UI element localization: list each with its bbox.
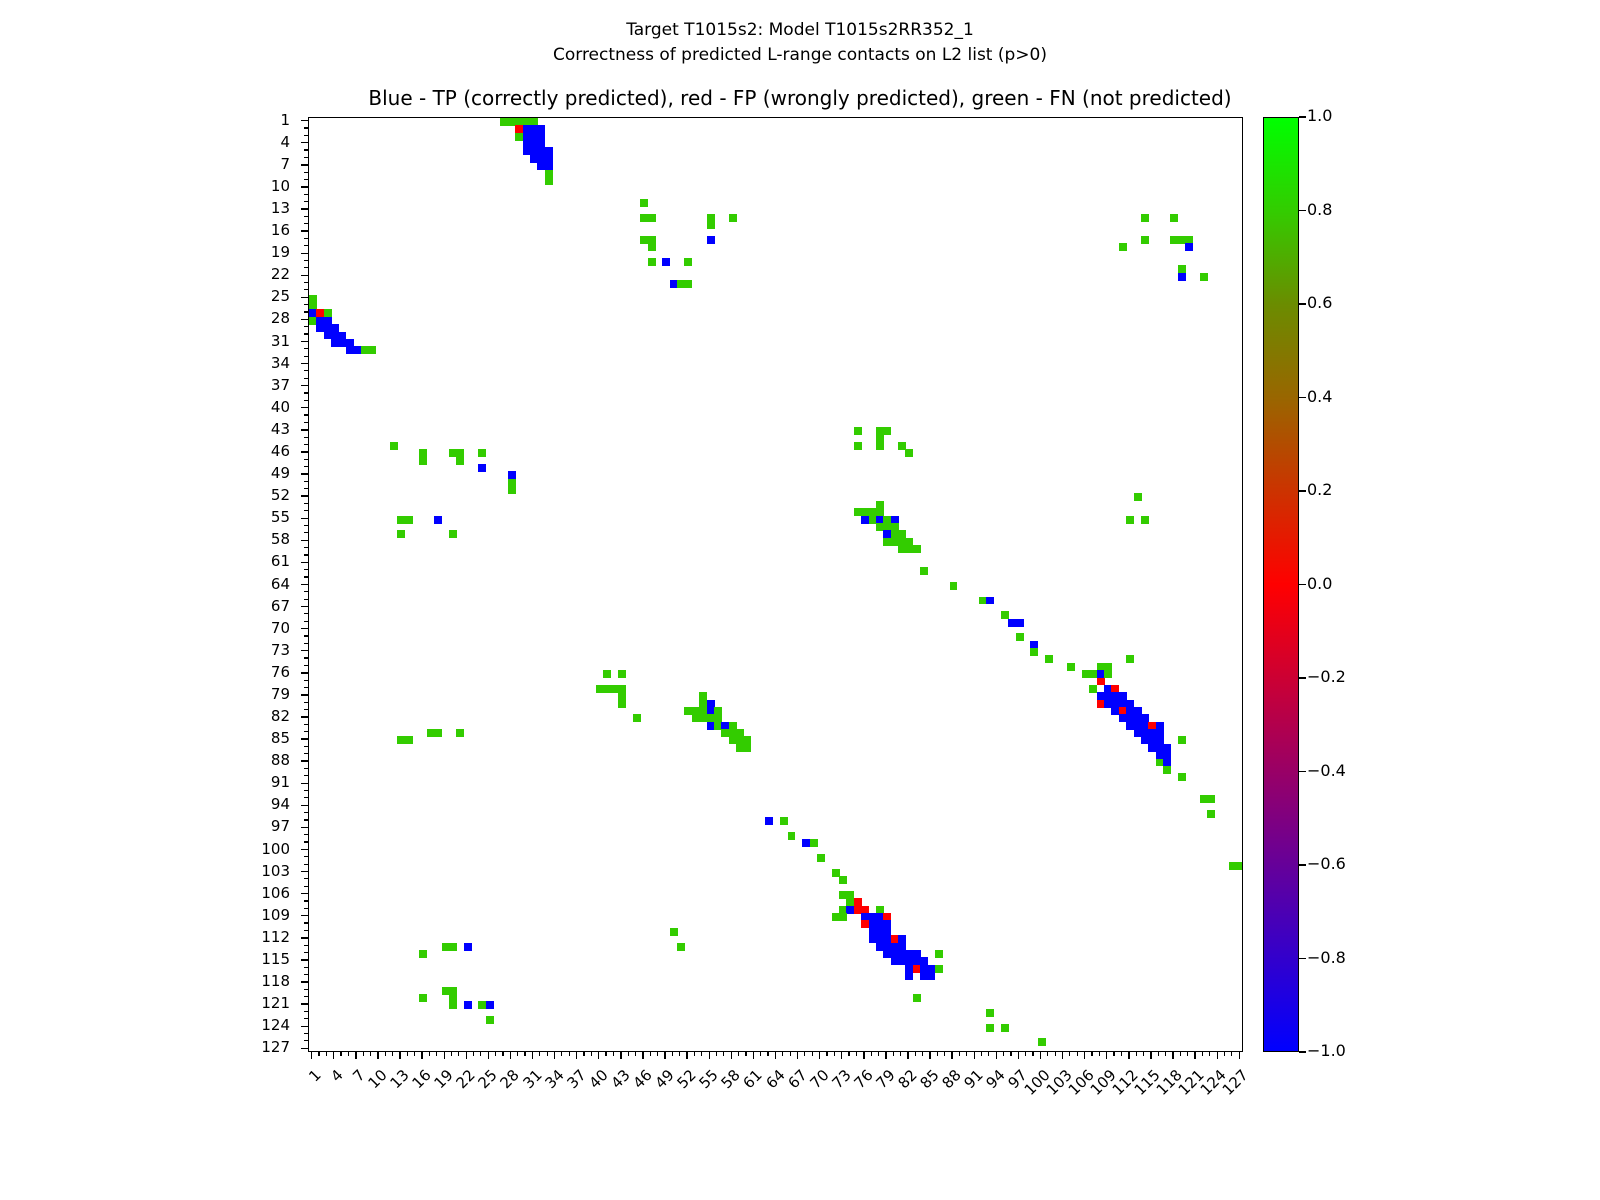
y-tick-label: 25: [0, 287, 290, 305]
x-tick-minor: [458, 1052, 459, 1056]
colorbar-tick-labels: 1.00.80.60.40.20.0−0.2−0.4−0.6−0.8−1.0: [1307, 117, 1387, 1052]
contact-cell: [449, 530, 457, 538]
colorbar-tick: [1299, 677, 1306, 678]
y-tick-label: 7: [0, 155, 290, 173]
contact-cell: [839, 876, 847, 884]
x-tick-minor: [1069, 1052, 1070, 1056]
x-tick-minor: [539, 1052, 540, 1056]
title-line-1: Target T1015s2: Model T1015s2RR352_1: [0, 18, 1600, 43]
x-tick-minor: [981, 1052, 982, 1056]
x-tick-minor: [701, 1052, 702, 1056]
x-tick-major: [1172, 1052, 1173, 1059]
colorbar-tick: [1299, 958, 1306, 959]
x-tick-major: [709, 1052, 710, 1059]
contact-cell: [419, 950, 427, 958]
x-tick-minor: [790, 1052, 791, 1056]
x-tick-major: [1040, 1052, 1041, 1059]
contact-cell: [1001, 1024, 1009, 1032]
x-axis-labels: 1471013161922252831343740434649525558616…: [308, 1060, 1243, 1140]
x-tick-major: [819, 1052, 820, 1059]
x-tick-minor: [922, 1052, 923, 1056]
x-tick-minor: [547, 1052, 548, 1056]
x-tick-major: [377, 1052, 378, 1059]
y-tick-label: 67: [0, 597, 290, 615]
x-tick-minor: [635, 1052, 636, 1056]
x-tick-minor: [1003, 1052, 1004, 1056]
contact-cell: [839, 913, 847, 921]
contact-cell: [390, 442, 398, 450]
contact-cell: [449, 943, 457, 951]
y-tick-label: 46: [0, 442, 290, 460]
x-tick-minor: [738, 1052, 739, 1056]
x-tick-minor: [745, 1052, 746, 1056]
contact-cell: [905, 449, 913, 457]
contact-cell: [648, 258, 656, 266]
y-tick-label: 52: [0, 486, 290, 504]
y-tick-label: 43: [0, 420, 290, 438]
x-tick-major: [620, 1052, 621, 1059]
contact-cell: [729, 214, 737, 222]
x-tick-minor: [966, 1052, 967, 1056]
y-tick-label: 85: [0, 729, 290, 747]
contact-cell: [456, 729, 464, 737]
x-tick-minor: [517, 1052, 518, 1056]
x-tick-minor: [1047, 1052, 1048, 1056]
y-tick-label: 22: [0, 265, 290, 283]
contact-cell: [743, 744, 751, 752]
y-tick-label: 94: [0, 795, 290, 813]
x-tick-minor: [716, 1052, 717, 1056]
y-tick-label: 49: [0, 464, 290, 482]
y-tick-label: 37: [0, 376, 290, 394]
contact-cell: [618, 700, 626, 708]
x-tick-minor: [812, 1052, 813, 1056]
colorbar-tick: [1299, 116, 1306, 117]
x-tick-minor: [407, 1052, 408, 1056]
contact-cell: [545, 177, 553, 185]
x-tick-major: [1194, 1052, 1195, 1059]
y-tick-label: 55: [0, 508, 290, 526]
x-tick-major: [841, 1052, 842, 1059]
contact-cell: [986, 597, 994, 605]
contact-cell: [464, 943, 472, 951]
colorbar-tick-label: −0.4: [1307, 761, 1346, 780]
contact-cell: [1045, 655, 1053, 663]
x-tick-minor: [414, 1052, 415, 1056]
x-tick-minor: [605, 1052, 606, 1056]
x-tick-major: [996, 1052, 997, 1059]
x-tick-major: [885, 1052, 886, 1059]
contact-cell: [1067, 663, 1075, 671]
x-tick-major: [974, 1052, 975, 1059]
x-tick-minor: [672, 1052, 673, 1056]
title-line-2: Correctness of predicted L-range contact…: [0, 43, 1600, 68]
contact-cell: [478, 464, 486, 472]
contact-cell: [478, 449, 486, 457]
y-tick-label: 76: [0, 663, 290, 681]
colorbar-tick-label: 0.2: [1307, 480, 1332, 499]
colorbar-tick: [1299, 490, 1306, 491]
contact-cell: [368, 346, 376, 354]
x-tick-minor: [1113, 1052, 1114, 1056]
x-tick-minor: [826, 1052, 827, 1056]
x-tick-major: [1150, 1052, 1151, 1059]
contact-cell: [670, 928, 678, 936]
contact-cell: [1038, 1038, 1046, 1046]
x-tick-minor: [723, 1052, 724, 1056]
x-tick-major: [355, 1052, 356, 1059]
contact-cell: [935, 950, 943, 958]
y-tick-label: 28: [0, 309, 290, 327]
x-tick-major: [532, 1052, 533, 1059]
x-tick-minor: [1224, 1052, 1225, 1056]
contact-cell: [405, 516, 413, 524]
contact-cell: [434, 729, 442, 737]
x-tick-major: [1062, 1052, 1063, 1059]
x-tick-minor: [1158, 1052, 1159, 1056]
colorbar: [1263, 117, 1299, 1052]
contact-cell: [927, 972, 935, 980]
contact-cell: [788, 832, 796, 840]
x-tick-minor: [1136, 1052, 1137, 1056]
contact-cell: [486, 1016, 494, 1024]
colorbar-tick: [1299, 210, 1306, 211]
x-tick-minor: [694, 1052, 695, 1056]
x-tick-minor: [318, 1052, 319, 1056]
contact-cell: [1237, 862, 1243, 870]
contact-cell: [662, 258, 670, 266]
x-tick-minor: [451, 1052, 452, 1056]
x-tick-minor: [480, 1052, 481, 1056]
y-tick-label: 121: [0, 994, 290, 1012]
x-tick-minor: [363, 1052, 364, 1056]
x-tick-minor: [959, 1052, 960, 1056]
x-tick-major: [775, 1052, 776, 1059]
y-tick-label: 79: [0, 685, 290, 703]
contact-cell: [456, 457, 464, 465]
y-tick-label: 13: [0, 199, 290, 217]
x-tick-major: [951, 1052, 952, 1059]
x-tick-major: [1106, 1052, 1107, 1059]
contact-cell: [920, 567, 928, 575]
x-tick-major: [1217, 1052, 1218, 1059]
x-tick-minor: [436, 1052, 437, 1056]
x-tick-minor: [340, 1052, 341, 1056]
colorbar-tick: [1299, 771, 1306, 772]
y-tick-label: 61: [0, 552, 290, 570]
x-tick-major: [1128, 1052, 1129, 1059]
contact-cell: [1134, 493, 1142, 501]
contact-cell: [508, 486, 516, 494]
contact-cell: [817, 854, 825, 862]
y-tick-label: 88: [0, 751, 290, 769]
y-axis-labels: 1471013161922252831343740434649525558616…: [0, 117, 308, 1052]
y-tick-label: 103: [0, 862, 290, 880]
x-tick-minor: [834, 1052, 835, 1056]
contact-cell: [1126, 516, 1134, 524]
contact-cell: [854, 442, 862, 450]
x-tick-minor: [1121, 1052, 1122, 1056]
x-tick-minor: [893, 1052, 894, 1056]
y-tick-label: 4: [0, 133, 290, 151]
y-tick-label: 58: [0, 530, 290, 548]
y-tick-label: 100: [0, 840, 290, 858]
contact-cell: [913, 545, 921, 553]
contact-map-plot-area[interactable]: [308, 117, 1243, 1052]
x-tick-minor: [1055, 1052, 1056, 1056]
x-tick-major: [929, 1052, 930, 1059]
x-tick-minor: [900, 1052, 901, 1056]
x-tick-major: [311, 1052, 312, 1059]
x-tick-minor: [326, 1052, 327, 1056]
y-tick-label: 115: [0, 950, 290, 968]
contact-cell: [1104, 670, 1112, 678]
x-tick-minor: [392, 1052, 393, 1056]
contact-cell: [1163, 766, 1171, 774]
x-tick-minor: [502, 1052, 503, 1056]
contact-cell: [1178, 273, 1186, 281]
y-tick-label: 64: [0, 575, 290, 593]
y-tick-label: 97: [0, 817, 290, 835]
x-tick-minor: [871, 1052, 872, 1056]
x-tick-minor: [561, 1052, 562, 1056]
y-tick-label: 82: [0, 707, 290, 725]
colorbar-tick: [1299, 864, 1306, 865]
y-tick-label: 112: [0, 928, 290, 946]
contact-cell: [397, 530, 405, 538]
x-tick-major: [510, 1052, 511, 1059]
contact-cell: [405, 736, 413, 744]
x-tick-major: [731, 1052, 732, 1059]
contact-cell: [905, 972, 913, 980]
x-tick-major: [444, 1052, 445, 1059]
contact-map-figure: Target T1015s2: Model T1015s2RR352_1 Cor…: [0, 0, 1600, 1200]
colorbar-tick-label: −0.8: [1307, 948, 1346, 967]
x-tick-minor: [856, 1052, 857, 1056]
contact-cell: [1207, 810, 1215, 818]
colorbar-tick-label: −1.0: [1307, 1041, 1346, 1060]
contact-cell: [1119, 243, 1127, 251]
contact-cell: [648, 214, 656, 222]
colorbar-tick-label: 0.4: [1307, 387, 1332, 406]
x-tick-major: [333, 1052, 334, 1059]
x-tick-minor: [583, 1052, 584, 1056]
x-tick-minor: [613, 1052, 614, 1056]
contact-cell: [935, 965, 943, 973]
x-tick-major: [598, 1052, 599, 1059]
x-tick-minor: [944, 1052, 945, 1056]
x-tick-minor: [524, 1052, 525, 1056]
x-tick-major: [664, 1052, 665, 1059]
x-tick-minor: [1209, 1052, 1210, 1056]
x-tick-minor: [628, 1052, 629, 1056]
colorbar-tick-label: −0.2: [1307, 667, 1346, 686]
x-tick-minor: [1091, 1052, 1092, 1056]
y-tick-label: 10: [0, 177, 290, 195]
contact-cell: [449, 1001, 457, 1009]
x-tick-major: [642, 1052, 643, 1059]
x-tick-minor: [569, 1052, 570, 1056]
contact-cell: [1141, 214, 1149, 222]
x-tick-minor: [804, 1052, 805, 1056]
x-tick-major: [907, 1052, 908, 1059]
y-tick-label: 1: [0, 111, 290, 129]
x-tick-minor: [848, 1052, 849, 1056]
figure-subtitle: Blue - TP (correctly predicted), red - F…: [0, 86, 1600, 110]
contact-cell: [854, 427, 862, 435]
contact-cell: [1200, 273, 1208, 281]
y-tick-label: 127: [0, 1038, 290, 1056]
x-tick-minor: [1143, 1052, 1144, 1056]
x-tick-minor: [878, 1052, 879, 1056]
contact-cell: [1178, 736, 1186, 744]
y-tick-label: 118: [0, 972, 290, 990]
x-tick-minor: [782, 1052, 783, 1056]
x-tick-minor: [1010, 1052, 1011, 1056]
x-tick-major: [421, 1052, 422, 1059]
contact-cell: [648, 243, 656, 251]
y-tick-label: 19: [0, 243, 290, 261]
contact-cell: [1016, 633, 1024, 641]
x-tick-minor: [760, 1052, 761, 1056]
x-tick-minor: [495, 1052, 496, 1056]
contact-cell: [486, 1001, 494, 1009]
x-tick-minor: [657, 1052, 658, 1056]
x-tick-major: [554, 1052, 555, 1059]
contact-cell: [684, 258, 692, 266]
colorbar-gradient: [1263, 117, 1299, 1052]
contact-cell: [883, 427, 891, 435]
y-tick-label: 40: [0, 398, 290, 416]
x-tick-minor: [937, 1052, 938, 1056]
colorbar-tick: [1299, 1051, 1306, 1052]
contact-cell: [1141, 236, 1149, 244]
colorbar-tick-label: 0.8: [1307, 200, 1332, 219]
contact-cell: [1016, 619, 1024, 627]
contact-cell: [1126, 655, 1134, 663]
x-tick-major: [1084, 1052, 1085, 1059]
x-tick-major: [1018, 1052, 1019, 1059]
x-tick-minor: [988, 1052, 989, 1056]
contact-cell: [633, 714, 641, 722]
x-tick-minor: [385, 1052, 386, 1056]
x-tick-minor: [1165, 1052, 1166, 1056]
contact-cell: [950, 582, 958, 590]
colorbar-tick-label: −0.6: [1307, 854, 1346, 873]
colorbar-tick-label: 1.0: [1307, 106, 1332, 125]
contact-cell: [677, 943, 685, 951]
x-tick-major: [1239, 1052, 1240, 1059]
contact-cell: [810, 839, 818, 847]
contact-cell: [1185, 243, 1193, 251]
x-tick-minor: [1032, 1052, 1033, 1056]
colorbar-tick-label: 0.0: [1307, 574, 1332, 593]
y-tick-label: 16: [0, 221, 290, 239]
contact-cell: [876, 442, 884, 450]
contact-cell: [640, 199, 648, 207]
x-tick-minor: [915, 1052, 916, 1056]
contact-cell: [618, 670, 626, 678]
x-tick-major: [576, 1052, 577, 1059]
colorbar-tick-label: 0.6: [1307, 293, 1332, 312]
x-tick-minor: [1077, 1052, 1078, 1056]
contact-cell: [1141, 516, 1149, 524]
contact-cell: [986, 1009, 994, 1017]
contact-cell: [1030, 648, 1038, 656]
contact-cell: [1207, 795, 1215, 803]
contact-cell: [464, 1001, 472, 1009]
contact-cell: [603, 670, 611, 678]
x-tick-minor: [591, 1052, 592, 1056]
y-tick-label: 106: [0, 884, 290, 902]
y-tick-label: 124: [0, 1016, 290, 1034]
x-tick-major: [686, 1052, 687, 1059]
x-tick-minor: [370, 1052, 371, 1056]
x-tick-minor: [650, 1052, 651, 1056]
y-tick-label: 73: [0, 641, 290, 659]
x-tick-major: [466, 1052, 467, 1059]
contact-cell: [780, 817, 788, 825]
x-tick-minor: [473, 1052, 474, 1056]
y-tick-label: 91: [0, 773, 290, 791]
x-tick-minor: [1231, 1052, 1232, 1056]
x-tick-major: [863, 1052, 864, 1059]
y-tick-label: 70: [0, 619, 290, 637]
contact-cell: [419, 994, 427, 1002]
contact-cell: [707, 221, 715, 229]
x-tick-minor: [348, 1052, 349, 1056]
y-tick-label: 109: [0, 906, 290, 924]
x-tick-major: [797, 1052, 798, 1059]
x-tick-minor: [1025, 1052, 1026, 1056]
contact-cell: [419, 457, 427, 465]
x-tick-major: [753, 1052, 754, 1059]
x-tick-minor: [1202, 1052, 1203, 1056]
contact-cell: [1170, 214, 1178, 222]
y-tick-label: 31: [0, 332, 290, 350]
colorbar-tick: [1299, 584, 1306, 585]
colorbar-tick: [1299, 303, 1306, 304]
x-tick-minor: [1187, 1052, 1188, 1056]
contact-cell: [684, 280, 692, 288]
x-tick-minor: [1180, 1052, 1181, 1056]
contact-cell: [986, 1024, 994, 1032]
figure-title: Target T1015s2: Model T1015s2RR352_1 Cor…: [0, 18, 1600, 68]
x-tick-minor: [429, 1052, 430, 1056]
x-tick-minor: [679, 1052, 680, 1056]
x-tick-major: [488, 1052, 489, 1059]
contact-cell: [707, 236, 715, 244]
contact-cells-layer: [309, 118, 1242, 1051]
contact-cell: [765, 817, 773, 825]
contact-cell: [913, 994, 921, 1002]
contact-cell: [1178, 773, 1186, 781]
x-tick-major: [399, 1052, 400, 1059]
x-tick-minor: [767, 1052, 768, 1056]
x-tick-minor: [1099, 1052, 1100, 1056]
contact-cell: [434, 516, 442, 524]
y-tick-label: 34: [0, 354, 290, 372]
colorbar-tick: [1299, 397, 1306, 398]
